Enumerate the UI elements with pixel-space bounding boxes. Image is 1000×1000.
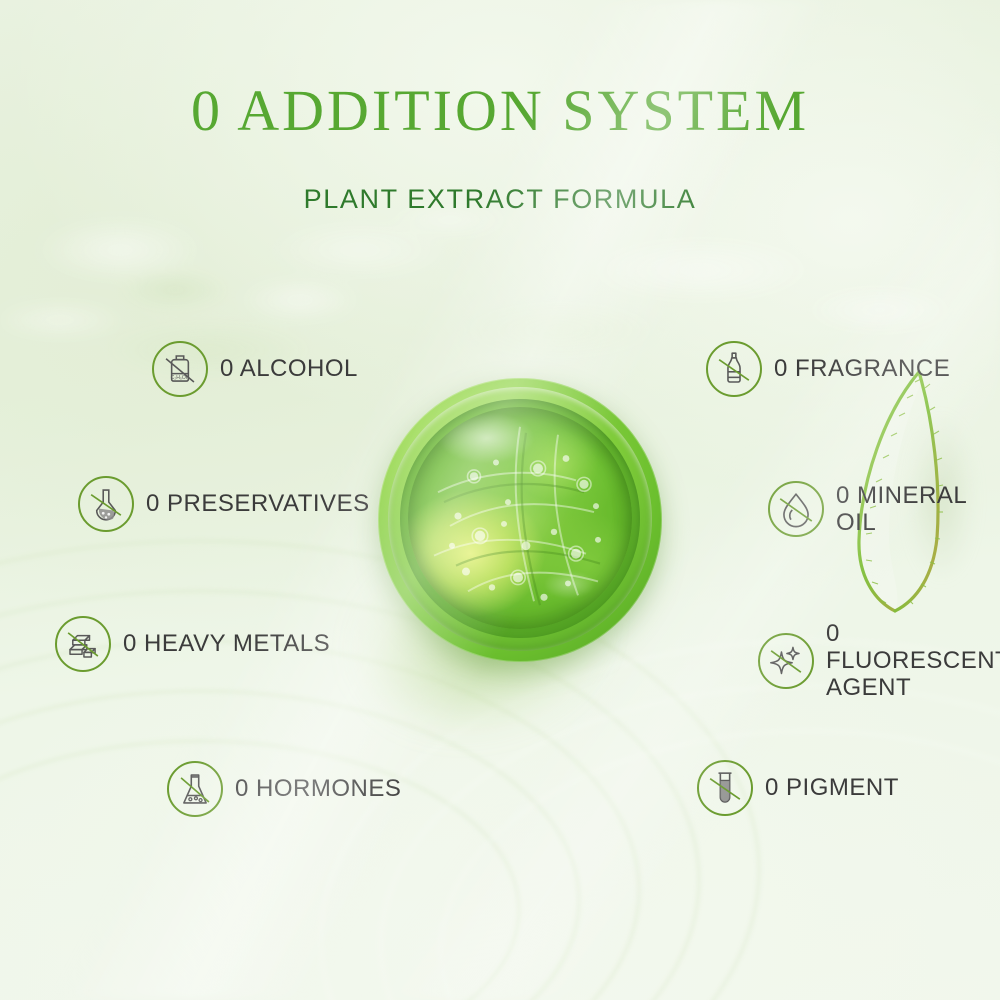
feature-item-pigment: 0 PIGMENT xyxy=(697,760,899,816)
aloe-vera-gel-jar xyxy=(378,378,662,662)
sparkle-icon xyxy=(758,633,814,689)
metal-ingots-icon xyxy=(55,616,111,672)
page-subtitle: PLANT EXTRACT FORMULA xyxy=(0,186,1000,213)
erlenmeyer-flask-icon xyxy=(167,761,223,817)
feature-item-fragrance: 0 FRAGRANCE xyxy=(706,341,950,397)
feature-item-alcohol: C₂H₅OH 0 ALCOHOL xyxy=(152,341,358,397)
page-title: 0 ADDITION SYSTEM xyxy=(0,82,1000,140)
feature-item-fluorescent-agent: 0 FLUORESCENT AGENT xyxy=(758,620,962,701)
feature-label: 0 FLUORESCENT AGENT xyxy=(826,620,962,701)
feature-item-heavy-metals: 0 HEAVY METALS xyxy=(55,616,330,672)
feature-label: 0 PRESERVATIVES xyxy=(146,490,370,517)
feature-item-preservatives: 0 PRESERVATIVES xyxy=(78,476,370,532)
feature-item-hormones: 0 HORMONES xyxy=(167,761,401,817)
feature-label: 0 HEAVY METALS xyxy=(123,630,330,657)
test-tube-icon xyxy=(697,760,753,816)
water-droplet-icon xyxy=(768,481,824,537)
aloe-gel-surface xyxy=(408,407,632,629)
feature-label: 0 HORMONES xyxy=(235,775,401,802)
alcohol-bottle-icon: C₂H₅OH xyxy=(152,341,208,397)
feature-label: 0 MINERAL OIL xyxy=(836,482,1000,536)
perfume-bottle-icon xyxy=(706,341,762,397)
feature-label: 0 PIGMENT xyxy=(765,774,899,801)
promo-banner: 0 ADDITION SYSTEM PLANT EXTRACT FORMULA … xyxy=(0,0,1000,1000)
feature-label: 0 FRAGRANCE xyxy=(774,355,950,382)
flask-icon xyxy=(78,476,134,532)
feature-item-mineral-oil: 0 MINERAL OIL xyxy=(768,481,1000,537)
feature-label: 0 ALCOHOL xyxy=(220,355,358,382)
